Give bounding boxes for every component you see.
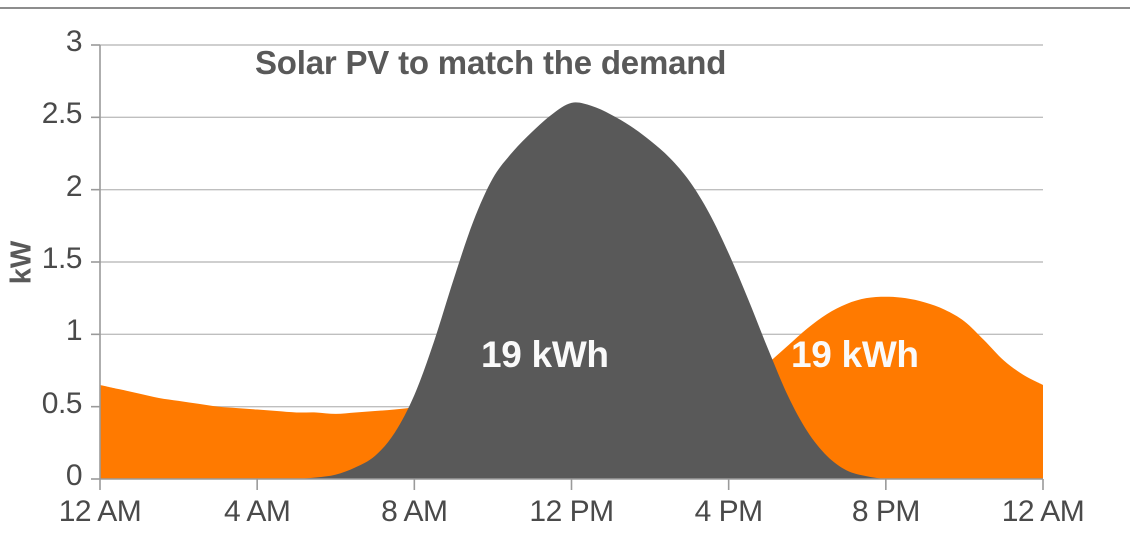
x-tick-label: 8 PM — [806, 495, 966, 529]
area-series-group — [100, 102, 1043, 479]
x-tick-label: 4 PM — [649, 495, 809, 529]
x-tick-label: 12 AM — [963, 495, 1123, 529]
y-tick-label: 3 — [12, 25, 82, 59]
y-tick-label: 0.5 — [12, 387, 82, 421]
y-tick-label: 2 — [12, 170, 82, 204]
chart-container: Solar PV to match the demand kW 00.511.5… — [0, 0, 1130, 546]
x-tick-label: 4 AM — [177, 495, 337, 529]
y-tick-label: 0 — [12, 459, 82, 493]
y-tick-label: 2.5 — [12, 97, 82, 131]
y-tick-label: 1.5 — [12, 242, 82, 276]
x-tick-label: 8 AM — [334, 495, 494, 529]
chart-title: Solar PV to match the demand — [255, 44, 726, 82]
x-tick-label: 12 AM — [20, 495, 180, 529]
annotation-demand-kwh: 19 kWh — [791, 334, 919, 376]
annotation-solar-kwh: 19 kWh — [481, 334, 609, 376]
y-tick-label: 1 — [12, 314, 82, 348]
x-tick-label: 12 PM — [492, 495, 652, 529]
